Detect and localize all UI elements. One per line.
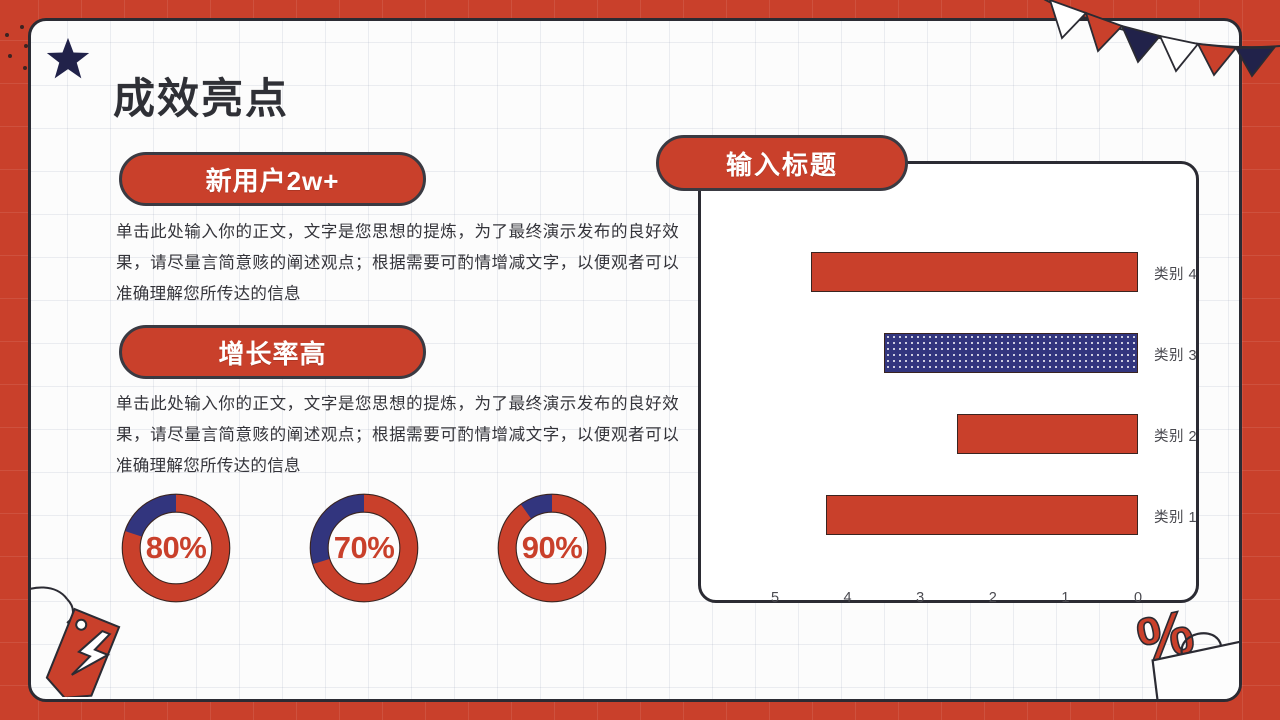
donut-chart: 90% (496, 492, 608, 604)
chart-panel: 类别 4类别 3类别 2类别 1543210 (698, 161, 1199, 603)
x-tick-label: 4 (836, 590, 860, 606)
category-label: 类别 4 (1154, 263, 1197, 284)
page-title: 成效亮点 (113, 65, 289, 126)
pill-chart-title[interactable]: 输入标题 (656, 135, 908, 191)
donut-value-label: 70% (308, 492, 420, 604)
bar-类别4 (811, 252, 1138, 292)
x-tick-label: 3 (908, 590, 932, 606)
pill-new-users[interactable]: 新用户2w+ (119, 152, 426, 206)
donut-value-label: 80% (120, 492, 232, 604)
bar-类别2 (957, 414, 1139, 454)
x-tick-label: 1 (1053, 590, 1077, 606)
category-label: 类别 3 (1154, 344, 1197, 365)
slide-card: 成效亮点 新用户2w+ 单击此处输入你的正文，文字是您思想的提炼，为了最终演示发… (28, 18, 1242, 702)
x-tick-label: 5 (763, 590, 787, 606)
category-label: 类别 2 (1154, 425, 1197, 446)
bar-类别3 (884, 333, 1138, 373)
body-text-growth-rate: 单击此处输入你的正文，文字是您思想的提炼，为了最终演示发布的良好效果，请尽量言简… (116, 389, 679, 482)
x-tick-label: 0 (1126, 590, 1150, 606)
bar-类别1 (826, 495, 1138, 535)
category-label: 类别 1 (1154, 506, 1197, 527)
x-tick-label: 2 (981, 590, 1005, 606)
pill-growth-rate[interactable]: 增长率高 (119, 325, 426, 379)
donut-chart: 70% (308, 492, 420, 604)
star-icon (45, 36, 91, 82)
donut-chart: 80% (120, 492, 232, 604)
slide-canvas: 成效亮点 新用户2w+ 单击此处输入你的正文，文字是您思想的提炼，为了最终演示发… (0, 0, 1280, 720)
body-text-new-users: 单击此处输入你的正文，文字是您思想的提炼，为了最终演示发布的良好效果，请尽量言简… (116, 217, 679, 310)
donut-value-label: 90% (496, 492, 608, 604)
bar-plot: 类别 4类别 3类别 2类别 1543210 (701, 164, 1196, 600)
